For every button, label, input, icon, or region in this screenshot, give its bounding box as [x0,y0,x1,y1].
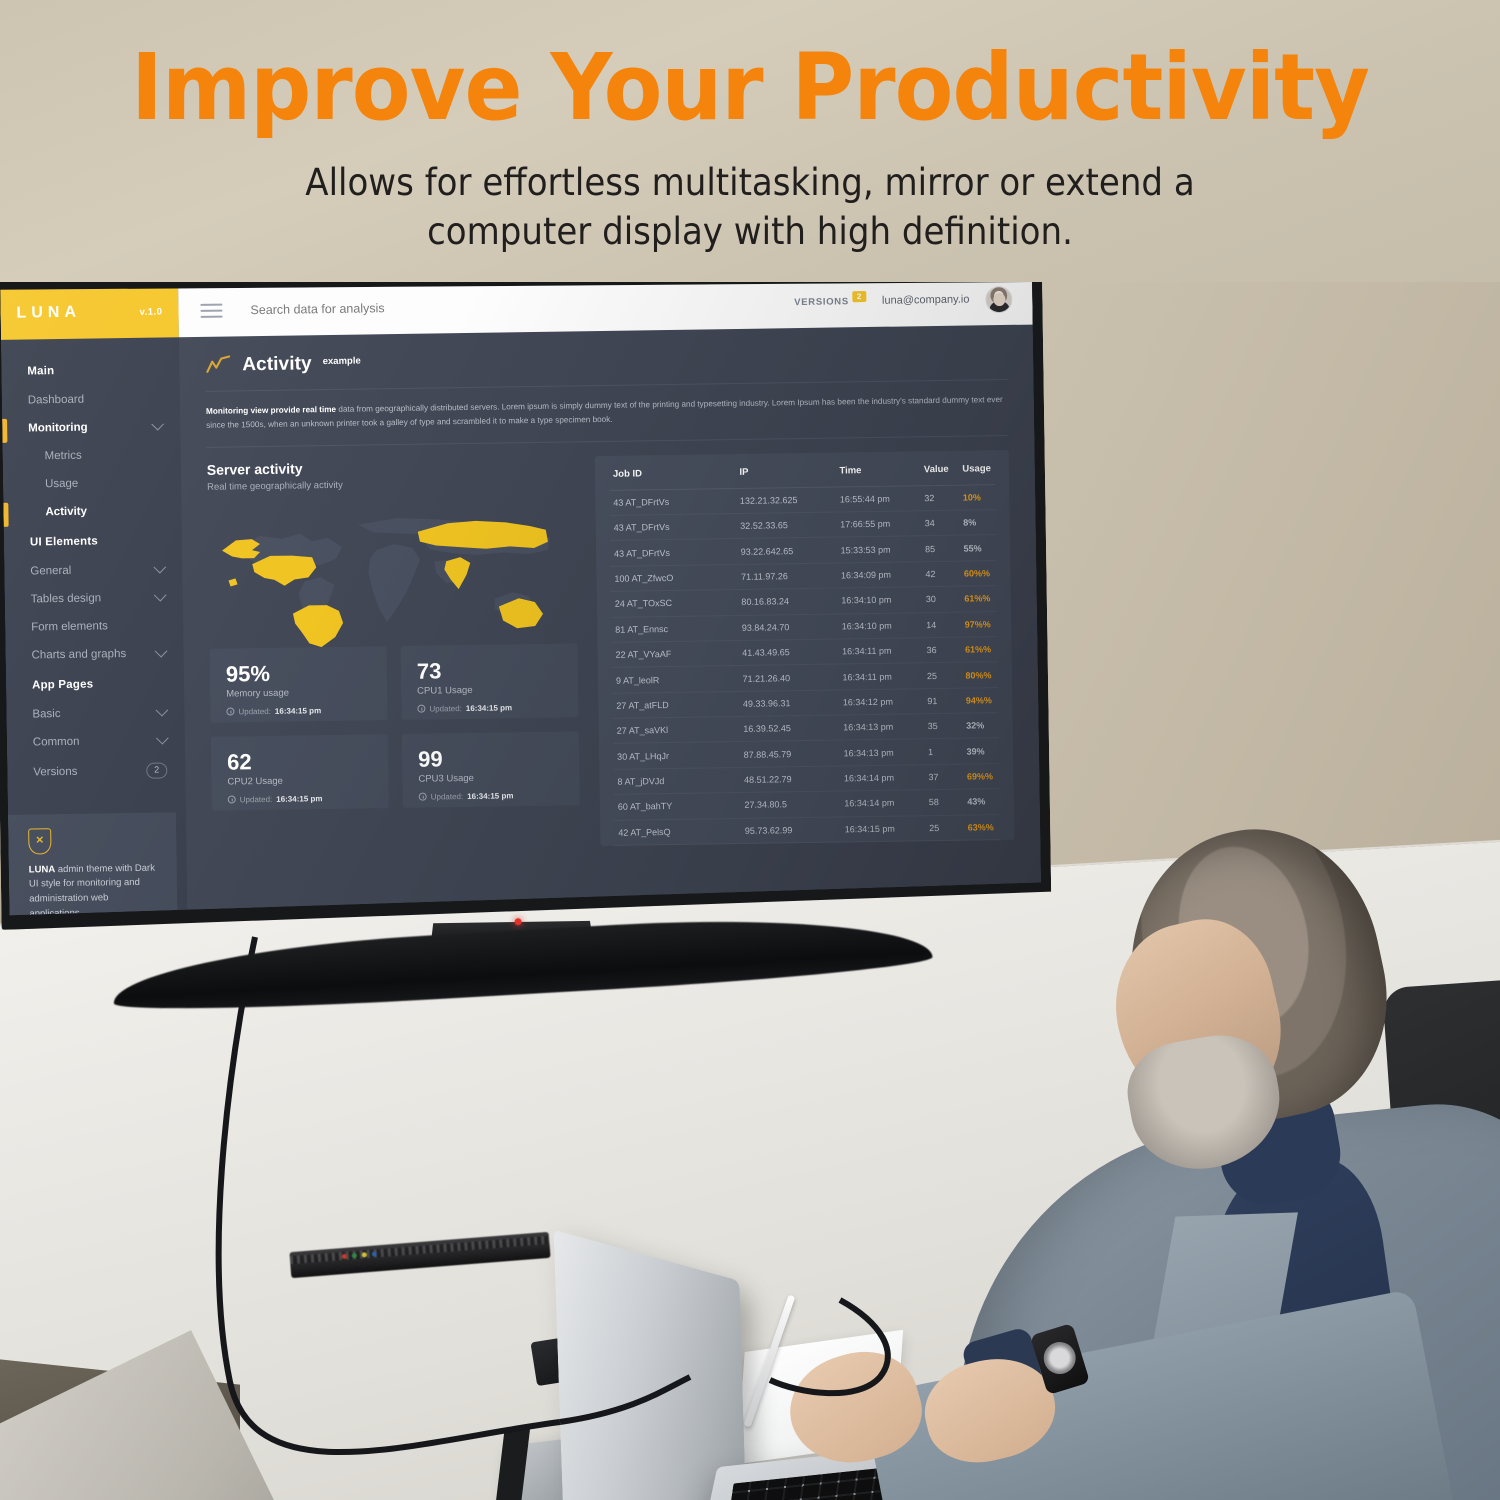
table-cell-value: 58 [925,789,964,815]
table-cell-job-id: 8 AT_jDVJd [613,767,740,794]
table-cell-ip: 41.43.49.65 [738,639,838,666]
table-cell-ip: 93.22.642.65 [736,537,836,564]
page-title: Activity [242,353,312,376]
updated-prefix: Updated: [431,792,464,801]
sidebar-item-general[interactable]: General [4,555,182,586]
page-tag: example [323,356,361,368]
table-cell-value: 25 [923,662,962,688]
table-cell-time: 16:34:15 pm [841,815,926,842]
chevron-down-icon [151,417,164,430]
sidebar-item-monitoring[interactable]: Monitoring [2,412,180,443]
table-cell-value: 25 [925,815,964,841]
table-cell-ip: 27.34.80.5 [740,791,840,818]
table-cell-time: 16:34:13 pm [839,714,924,741]
brand-version: v.1.0 [139,306,162,317]
sidebar-item-metrics[interactable]: Metrics [2,440,180,471]
subheadline-line-2: computer display with high definition. [60,207,1440,256]
sidebar-promo-card: LUNA admin theme with Dark UI style for … [8,812,178,918]
table-cell-value: 30 [922,586,961,612]
table-cell-time: 16:34:12 pm [839,688,924,715]
table-cell-ip: 87.88.45.79 [739,740,839,767]
table-cell-time: 16:34:13 pm [839,739,924,766]
table-cell-ip: 48.51.22.79 [740,766,840,793]
table-cell-value: 37 [924,764,963,790]
table-cell-job-id: 60 AT_bahTY [614,793,741,820]
versions-count-badge: 2 [146,762,167,778]
active-accent-bar [3,503,8,527]
sidebar-item-label: Metrics [45,450,82,463]
sidebar-item-label: Basic [32,708,60,720]
table-cell-time: 16:34:10 pm [837,587,922,614]
table-cell-usage: 10% [959,484,996,510]
table-cell-value: 1 [924,739,963,765]
search-input[interactable] [240,295,776,317]
table-cell-usage: 43% [963,789,1000,815]
table-cell-job-id: 27 AT_saVKl [613,717,740,744]
table-cell-job-id: 42 AT_PelsQ [614,818,741,845]
sidebar-item-dashboard[interactable]: Dashboard [2,384,180,415]
table-cell-usage: 80%% [961,662,998,688]
table-cell-job-id: 43 AT_DFrtVs [610,514,737,541]
chevron-down-icon [155,644,168,657]
table-row[interactable]: 42 AT_PelsQ95.73.62.9916:34:15 pm2563%% [614,814,1000,845]
sidebar-item-label: Dashboard [28,394,84,407]
promo-brand: LUNA [29,864,56,875]
stat-card-cpu2[interactable]: 62 CPU2 Usage Updated:16:34:15 pm [211,734,389,811]
stat-value: 73 [417,657,562,682]
clock-icon [417,705,425,713]
sidebar-item-activity[interactable]: Activity [3,496,181,527]
hamburger-icon[interactable] [200,304,222,318]
table-cell-time: 16:34:14 pm [840,790,925,817]
brand-name: LUNA [16,304,81,323]
sidebar-item-form-elements[interactable]: Form elements [5,611,183,642]
map-region-hawaii [228,578,237,586]
stat-updated: Updated:16:34:15 pm [226,697,371,716]
table-cell-value: 91 [923,688,962,714]
active-accent-bar [2,419,7,443]
table-cell-job-id: 9 AT_leolR [612,666,739,693]
sidebar-item-common[interactable]: Common [7,726,185,757]
table-cell-value: 42 [921,561,960,587]
external-monitor: LUNA v.1.0 VERSIONS2 luna@company.io [0,282,1062,958]
stat-updated: Updated:16:34:15 pm [419,782,564,801]
sidebar-item-tables-design[interactable]: Tables design [5,583,183,614]
user-email[interactable]: luna@company.io [882,294,970,307]
sidebar-item-charts-and-graphs[interactable]: Charts and graphs [5,639,183,670]
clock-icon [228,796,236,804]
activity-table-card: Job ID IP Time Value Usage 43 AT_DFrtVs1 [595,450,1015,846]
sidebar-group-title-main: Main [1,353,179,387]
sparkline-icon [205,355,231,375]
promo-text: LUNA admin theme with Dark UI style for … [29,861,162,918]
table-cell-job-id: 22 AT_VYaAF [611,640,738,667]
table-header-row: Job ID IP Time Value Usage [609,450,995,490]
versions-label: VERSIONS [794,296,849,308]
clock-icon [419,793,427,801]
table-cell-usage: 61%% [961,637,998,663]
table-cell-value: 34 [920,510,959,536]
sidebar-group-title-app-pages: App Pages [6,667,184,701]
updated-prefix: Updated: [238,707,271,716]
stat-value: 99 [418,745,563,770]
table-cell-time: 16:34:11 pm [838,638,923,665]
versions-badge: 2 [853,291,866,302]
world-map[interactable] [207,487,577,642]
stat-card-cpu3[interactable]: 99 CPU3 Usage Updated:16:34:15 pm [402,731,580,808]
world-map-svg [207,501,569,656]
table-cell-job-id: 43 AT_DFrtVs [609,488,736,515]
sidebar-item-label: Form elements [31,620,108,633]
table-head: Job ID IP Time Value Usage [609,450,995,490]
right-column: Job ID IP Time Value Usage 43 AT_DFrtVs1 [595,450,1015,846]
sidebar-item-versions[interactable]: Versions 2 [7,754,185,788]
sidebar-item-label: Common [33,736,80,749]
table-cell-job-id: 100 AT_ZfwcO [610,564,737,591]
stat-cards: 95% Memory usage Updated:16:34:15 pm 73 … [209,637,579,810]
stat-value: 62 [227,748,372,773]
chevron-down-icon [156,703,169,716]
sidebar-item-label: General [30,565,71,578]
table-cell-usage: 55% [959,535,996,561]
column-header-time[interactable]: Time [835,451,920,487]
subheadline-line-1: Allows for effortless multitasking, mirr… [60,158,1440,207]
table-cell-value: 32 [920,485,959,511]
table-cell-time: 17:66:55 pm [836,511,921,538]
monitor-screen: LUNA v.1.0 VERSIONS2 luna@company.io [0,282,1041,918]
table-cell-ip: 71.11.97.26 [737,563,837,590]
table-cell-usage: 69%% [963,763,1000,789]
subheadline: Allows for effortless multitasking, mirr… [60,158,1440,256]
main-content: Activity example Monitoring view provide… [179,325,1041,916]
table-cell-job-id: 24 AT_TOxSC [611,590,738,617]
table-cell-time: 16:34:09 pm [837,562,922,589]
stat-card-cpu1[interactable]: 73 CPU1 Usage Updated:16:34:15 pm [400,643,578,720]
updated-prefix: Updated: [240,795,273,804]
table-cell-time: 16:34:10 pm [838,612,923,639]
sidebar-group-title-ui-elements: UI Elements [4,524,182,558]
stat-value: 95% [226,660,371,685]
monitor-bezel: LUNA v.1.0 VERSIONS2 luna@company.io [0,282,1052,930]
table-cell-value: 36 [922,637,961,663]
table-cell-ip: 71.21.26.40 [738,664,838,691]
sidebar: Main Dashboard Monitoring Metrics [1,337,188,918]
table-cell-job-id: 43 AT_DFrtVs [610,539,737,566]
table-cell-usage: 39% [962,738,999,764]
table-cell-ip: 32.52.33.65 [736,512,836,539]
table-cell-job-id: 30 AT_LHqJr [613,742,740,769]
table-cell-ip: 49.33.96.31 [739,690,839,717]
table-cell-ip: 132.21.32.625 [736,487,836,514]
sidebar-item-label: Monitoring [28,422,88,435]
sidebar-item-label: Charts and graphs [31,648,126,661]
table-cell-time: 15:33:53 pm [836,536,921,563]
app-body: Main Dashboard Monitoring Metrics [1,325,1041,918]
table-cell-usage: 94%% [962,687,999,713]
table-cell-time: 16:55:44 pm [836,485,921,512]
clock-icon [226,708,234,716]
power-led-icon [515,918,522,925]
table-cell-ip: 93.84.24.70 [738,614,838,641]
table-cell-time: 16:34:11 pm [838,663,923,690]
content-columns: Server activity Real time geographically… [207,436,1015,852]
table-cell-usage: 8% [959,510,996,536]
chevron-down-icon [154,588,167,601]
column-header-ip[interactable]: IP [735,452,835,488]
table-cell-usage: 63%% [963,814,1000,840]
map-region-india [444,557,470,589]
updated-time: 16:34:15 pm [275,706,321,716]
map-region-brazil [293,605,344,648]
headline: Improve Your Productivity [53,42,1448,134]
chevron-down-icon [153,560,166,573]
activity-table: Job ID IP Time Value Usage 43 AT_DFrtVs1 [609,450,1001,846]
stat-updated: Updated:16:34:15 pm [417,694,562,713]
column-header-job-id[interactable]: Job ID [609,454,736,490]
app-brand[interactable]: LUNA v.1.0 [0,285,179,340]
updated-prefix: Updated: [429,704,462,713]
versions-link[interactable]: VERSIONS2 [794,296,866,308]
sidebar-item-label: Activity [45,506,87,519]
page-intro-bold: Monitoring view provide real time [206,405,336,416]
table-cell-job-id: 27 AT_atFLD [612,691,739,718]
chevron-down-icon [156,731,169,744]
marketing-banner: Improve Your Productivity Allows for eff… [0,0,1500,282]
left-column: Server activity Real time geographically… [207,456,581,852]
table-body: 43 AT_DFrtVs132.21.32.62516:55:44 pm3210… [609,484,1000,845]
table-cell-usage: 32% [962,713,999,739]
table-cell-usage: 97%% [960,611,997,637]
updated-time: 16:34:15 pm [467,791,513,801]
table-cell-value: 14 [922,612,961,638]
sidebar-item-label: Versions [33,766,77,779]
sidebar-item-usage[interactable]: Usage [3,468,181,499]
stat-updated: Updated:16:34:15 pm [228,785,373,804]
stat-card-memory[interactable]: 95% Memory usage Updated:16:34:15 pm [209,646,387,723]
table-cell-value: 85 [921,536,960,562]
column-header-value[interactable]: Value [920,450,959,485]
updated-time: 16:34:15 pm [466,703,512,713]
sidebar-item-label: Usage [45,478,78,490]
avatar[interactable] [985,285,1012,312]
product-photo-scene: WAVLINK LUNA v.1.0 VERSIONS2 [0,282,1500,1500]
updated-time: 16:34:15 pm [276,794,322,804]
table-cell-ip: 95.73.62.99 [741,817,841,844]
column-header-usage[interactable]: Usage [958,450,995,485]
table-cell-value: 35 [923,713,962,739]
sidebar-item-label: Tables design [31,592,101,605]
table-cell-ip: 80.16.83.24 [737,588,837,615]
table-cell-time: 16:34:14 pm [840,765,925,792]
table-cell-job-id: 81 AT_Ennsc [611,615,738,642]
shield-icon [28,828,51,854]
table-cell-usage: 60%% [960,560,997,586]
table-cell-usage: 61%% [960,586,997,612]
table-cell-ip: 16.39.52.45 [739,715,839,742]
topbar-right: VERSIONS2 luna@company.io [794,285,1013,315]
sidebar-item-basic[interactable]: Basic [6,698,184,729]
